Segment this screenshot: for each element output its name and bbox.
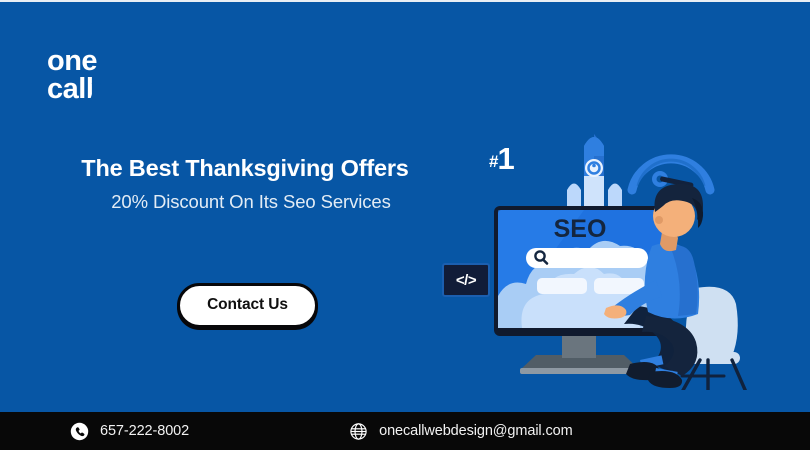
upward-arrow-icon xyxy=(87,73,103,103)
globe-icon xyxy=(349,422,368,441)
hero-headline: The Best Thanksgiving Offers xyxy=(0,155,490,182)
code-chip-label: </> xyxy=(456,272,476,289)
cloud-seo-label: SEO xyxy=(554,215,607,243)
promo-banner: one call The Best Thanksgiving Offers 20… xyxy=(0,0,810,450)
search-bar xyxy=(526,248,648,268)
logo-text-line-1: one xyxy=(47,48,177,76)
cta-container: Contact Us xyxy=(0,283,495,328)
hero-copy: The Best Thanksgiving Offers 20% Discoun… xyxy=(0,155,490,213)
top-edge-rule xyxy=(0,0,810,2)
rank-number: 1 xyxy=(497,141,513,176)
footer-email[interactable]: onecallwebdesign@gmail.com xyxy=(349,422,572,441)
footer-phone-text: 657-222-8002 xyxy=(100,423,189,439)
phone-icon xyxy=(70,422,89,441)
footer-email-text: onecallwebdesign@gmail.com xyxy=(379,423,572,439)
footer-phone[interactable]: 657-222-8002 xyxy=(70,422,189,441)
code-chip: </> xyxy=(442,263,490,297)
contact-footer: 657-222-8002 onecallwebdesign@gmail.com xyxy=(0,412,810,450)
logo-text-line-2: call xyxy=(47,76,177,104)
result-chip-1 xyxy=(537,278,587,294)
hero-subheadline: 20% Discount On Its Seo Services xyxy=(0,191,490,213)
contact-us-button[interactable]: Contact Us xyxy=(177,283,318,328)
brand-logo[interactable]: one call xyxy=(47,48,177,106)
rank-badge: #1 xyxy=(489,143,514,174)
